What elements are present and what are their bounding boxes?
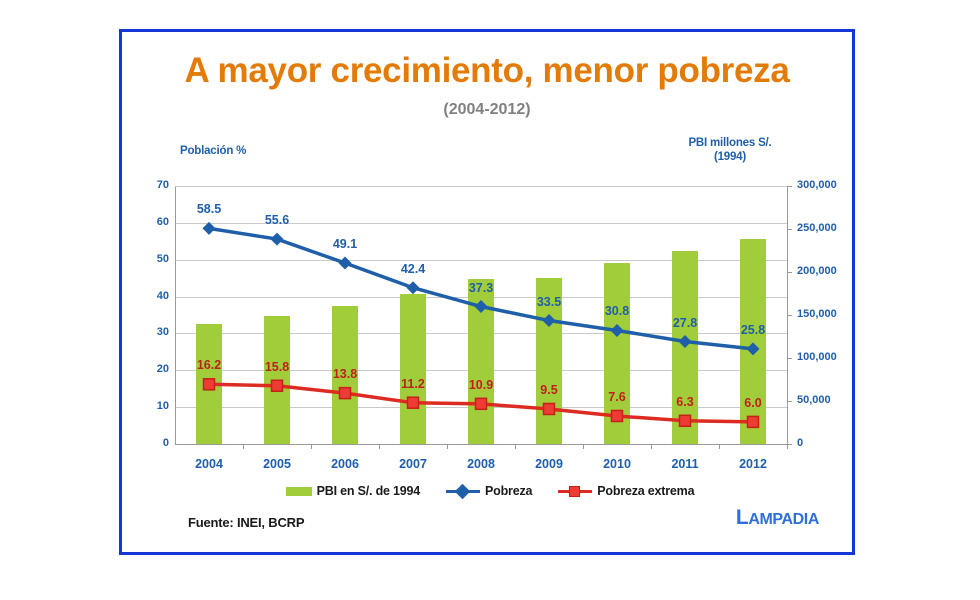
data-label-pobreza-extrema-2012: 6.0 [723, 396, 783, 410]
right-axis-tick: 200,000 [797, 265, 867, 277]
data-label-pobreza-extrema-2005: 15.8 [247, 360, 307, 374]
right-axis-tick: 100,000 [797, 351, 867, 363]
source-note: Fuente: INEI, BCRP [188, 515, 304, 530]
marker-diamond-2005 [271, 233, 284, 246]
x-axis-tickmark [583, 444, 584, 449]
data-label-pobreza-2008: 37.3 [451, 281, 511, 295]
slide-frame: A mayor crecimiento, menor pobreza (2004… [119, 29, 855, 555]
x-axis-tick-2011: 2011 [655, 457, 715, 471]
left-axis-tick: 30 [129, 326, 169, 338]
axis-line-left [175, 186, 176, 444]
data-label-pobreza-extrema-2011: 6.3 [655, 395, 715, 409]
x-axis-tickmark [379, 444, 380, 449]
left-axis-tick: 20 [129, 363, 169, 375]
lampadia-logo: LAMPADIA [736, 506, 819, 530]
bar-2011 [672, 251, 698, 444]
logo-rest: AMPADIA [748, 511, 819, 528]
data-label-pobreza-2010: 30.8 [587, 304, 647, 318]
axis-line-top [175, 186, 787, 187]
right-axis-tick: 150,000 [797, 308, 867, 320]
legend-item-pobreza: Pobreza [446, 484, 532, 498]
axis-line-right [787, 186, 788, 444]
data-label-pobreza-extrema-2009: 9.5 [519, 383, 579, 397]
data-label-pobreza-2012: 25.8 [723, 323, 783, 337]
x-axis-tick-2008: 2008 [451, 457, 511, 471]
x-axis-tick-2009: 2009 [519, 457, 579, 471]
x-axis-tickmark [311, 444, 312, 449]
left-axis-tick: 40 [129, 290, 169, 302]
x-axis-tickmark [243, 444, 244, 449]
bar-swatch-icon [286, 487, 312, 496]
x-axis-tick-2012: 2012 [723, 457, 783, 471]
legend-label-pbi: PBI en S/. de 1994 [317, 484, 420, 498]
x-axis-tick-2007: 2007 [383, 457, 443, 471]
x-axis-tick-2010: 2010 [587, 457, 647, 471]
bar-2010 [604, 263, 630, 444]
bar-2008 [468, 279, 494, 444]
x-axis-tickmark [515, 444, 516, 449]
diamond-line-icon [446, 485, 480, 497]
logo-lead: L [736, 506, 748, 529]
chart-legend: PBI en S/. de 1994 Pobreza Pobreza extre… [122, 484, 858, 498]
square-line-icon [558, 485, 592, 497]
x-axis-tick-2004: 2004 [179, 457, 239, 471]
left-axis-tick: 70 [129, 179, 169, 191]
legend-item-pbi: PBI en S/. de 1994 [286, 484, 420, 498]
marker-diamond-2007 [407, 281, 420, 294]
data-label-pobreza-extrema-2006: 13.8 [315, 367, 375, 381]
data-label-pobreza-2005: 55.6 [247, 213, 307, 227]
bar-2007 [400, 294, 426, 444]
bar-2005 [264, 316, 290, 444]
x-axis-tickmark [787, 444, 788, 449]
x-axis-tickmark [719, 444, 720, 449]
left-axis-tick: 50 [129, 253, 169, 265]
slide-canvas: A mayor crecimiento, menor pobreza (2004… [0, 0, 980, 600]
right-axis-tick: 0 [797, 437, 867, 449]
x-axis-tick-2005: 2005 [247, 457, 307, 471]
x-axis-tickmark [651, 444, 652, 449]
data-label-pobreza-2007: 42.4 [383, 262, 443, 276]
data-label-pobreza-2009: 33.5 [519, 295, 579, 309]
data-label-pobreza-extrema-2010: 7.6 [587, 390, 647, 404]
right-axis-tick: 300,000 [797, 179, 867, 191]
bar-2012 [740, 239, 766, 444]
legend-item-pobreza-extrema: Pobreza extrema [558, 484, 694, 498]
chart-plot-area: 706050403020100300,000250,000200,000150,… [122, 32, 858, 558]
data-label-pobreza-extrema-2004: 16.2 [179, 358, 239, 372]
data-label-pobreza-extrema-2008: 10.9 [451, 378, 511, 392]
x-axis-tick-2006: 2006 [315, 457, 375, 471]
left-axis-tick: 10 [129, 400, 169, 412]
legend-label-pobreza-extrema: Pobreza extrema [597, 484, 694, 498]
x-axis-tickmark [447, 444, 448, 449]
bar-2004 [196, 324, 222, 444]
right-axis-tick: 50,000 [797, 394, 867, 406]
axis-line-bottom [175, 444, 787, 445]
data-label-pobreza-2011: 27.8 [655, 316, 715, 330]
left-axis-tick: 60 [129, 216, 169, 228]
legend-label-pobreza: Pobreza [485, 484, 532, 498]
data-label-pobreza-2004: 58.5 [179, 202, 239, 216]
left-axis-tick: 0 [129, 437, 169, 449]
right-axis-tick: 250,000 [797, 222, 867, 234]
data-label-pobreza-extrema-2007: 11.2 [383, 377, 443, 391]
marker-diamond-2006 [339, 257, 352, 270]
data-label-pobreza-2006: 49.1 [315, 237, 375, 251]
